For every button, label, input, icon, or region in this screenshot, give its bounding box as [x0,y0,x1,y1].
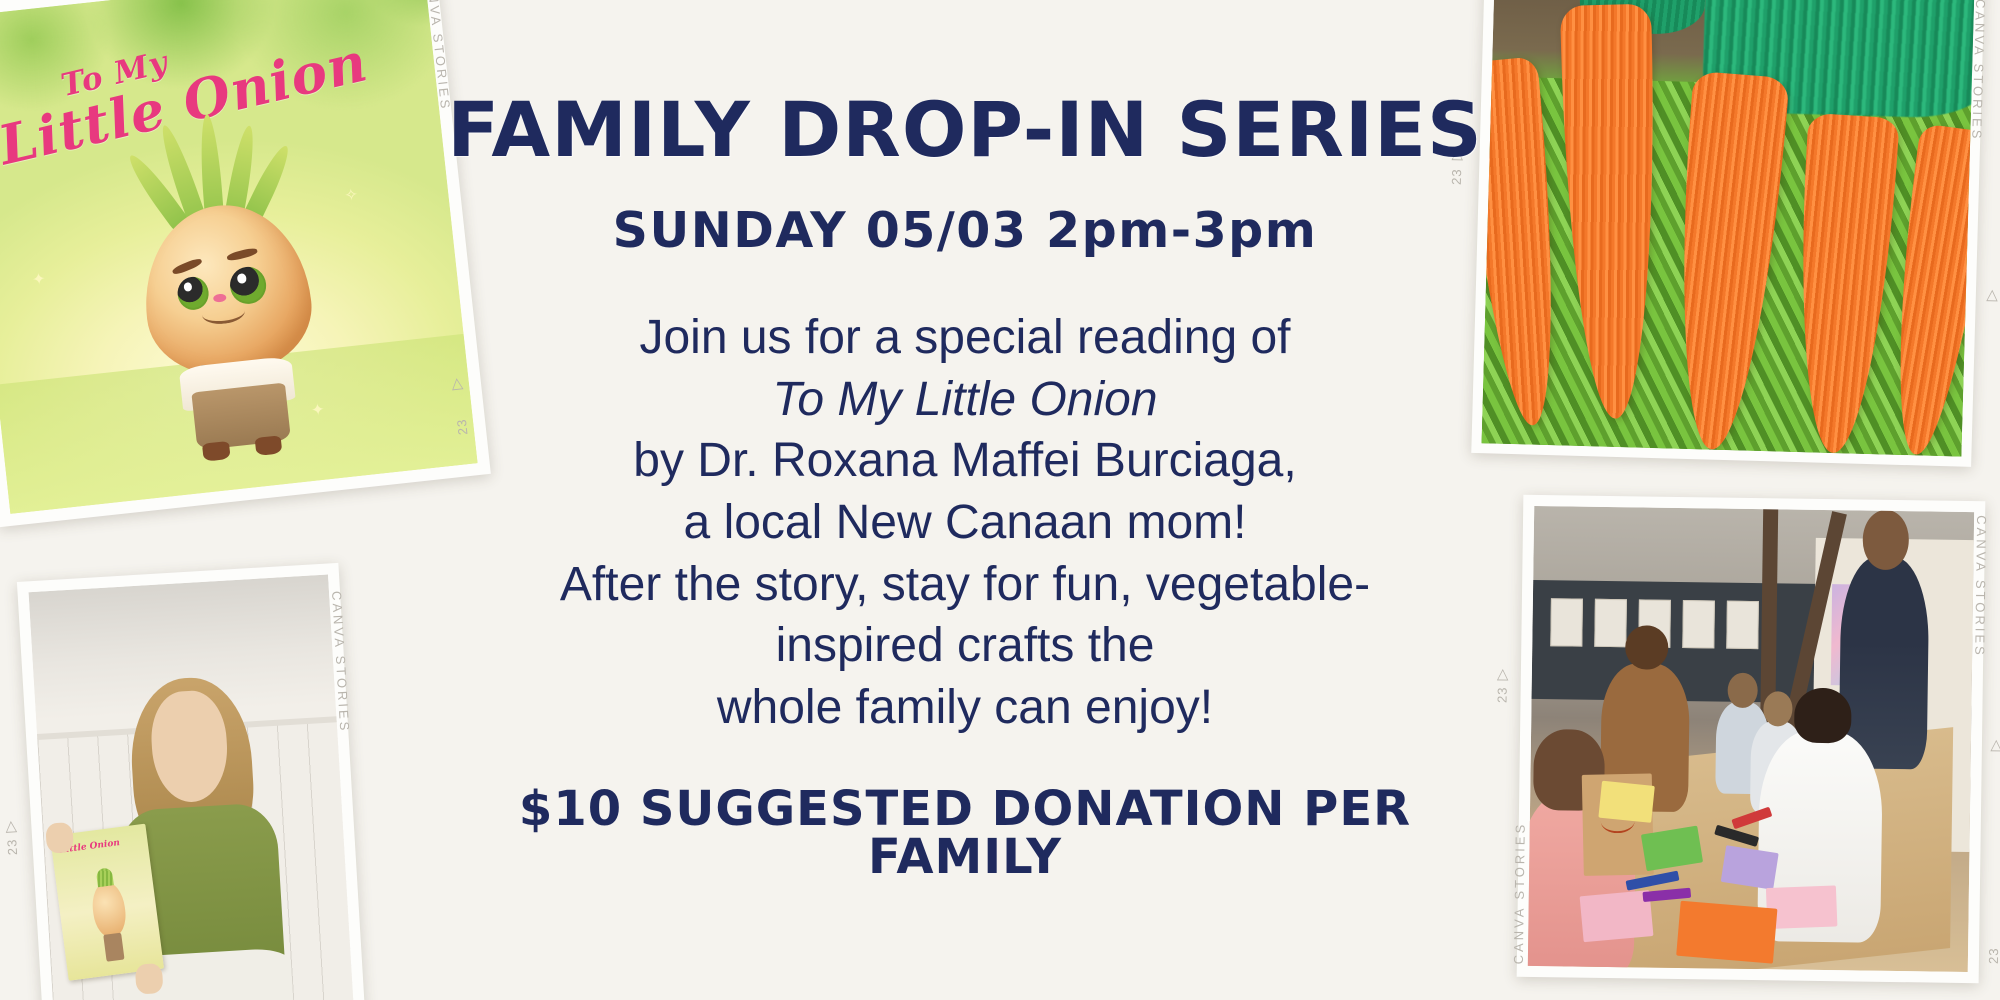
frame-number: 23 [4,838,20,855]
body-line-5: After the story, stay for fun, vegetable… [420,554,1510,616]
craft-workshop-image [1528,506,1974,972]
poster-canvas: ✦ ✧ ✦ To My Little Onion [0,0,2000,1000]
photo-craft-workshop: CANVA STORIES CANVA STORIES △ △ 23 23 [1517,495,1986,983]
poster-headline: FAMILY DROP-IN SERIES [420,92,1510,168]
frame-triangle-icon: △ [1986,287,1998,302]
body-line-2-book-title: To My Little Onion [420,369,1510,431]
photo-book-cover: ✦ ✧ ✦ To My Little Onion [0,0,491,527]
frame-triangle-icon: △ [5,818,17,834]
body-line-1: Join us for a special reading of [420,307,1510,369]
body-line-7: whole family can enjoy! [420,677,1510,739]
photo-author-with-book: Little Onion CANVA STORIES △ 23 [17,563,365,1000]
canva-watermark: CANVA STORIES [1972,515,1989,658]
frame-triangle-icon: △ [1990,737,2000,752]
carrots-image [1482,0,1975,457]
canva-watermark: CANVA STORIES [1511,822,1528,965]
held-book-onion [89,880,129,939]
poster-date-time: SUNDAY 05/03 2pm-3pm [420,206,1510,255]
book-cover-image: ✦ ✧ ✦ To My Little Onion [0,0,478,514]
body-line-4: a local New Canaan mom! [420,492,1510,554]
frame-number: 23 [1986,947,2000,964]
author-image: Little Onion [29,574,354,1000]
body-line-3-author: by Dr. Roxana Maffei Burciaga, [420,430,1510,492]
body-line-6: inspired crafts the [420,615,1510,677]
poster-donation-note: $10 SUGGESTED DONATION PER FAMILY [420,785,1510,881]
sparkle-icon: ✦ [31,269,46,290]
canva-watermark: CANVA STORIES [1969,0,1988,142]
author-hand [45,822,74,854]
onion-character [120,150,338,459]
poster-text-column: FAMILY DROP-IN SERIES SUNDAY 05/03 2pm-3… [420,40,1510,970]
sparkle-icon: ✧ [344,185,359,206]
poster-body-copy: Join us for a special reading of To My L… [420,307,1510,739]
author-hand [135,963,164,995]
photo-yarn-carrots: CANVA STORIES △ △ 23 [1471,0,1984,467]
